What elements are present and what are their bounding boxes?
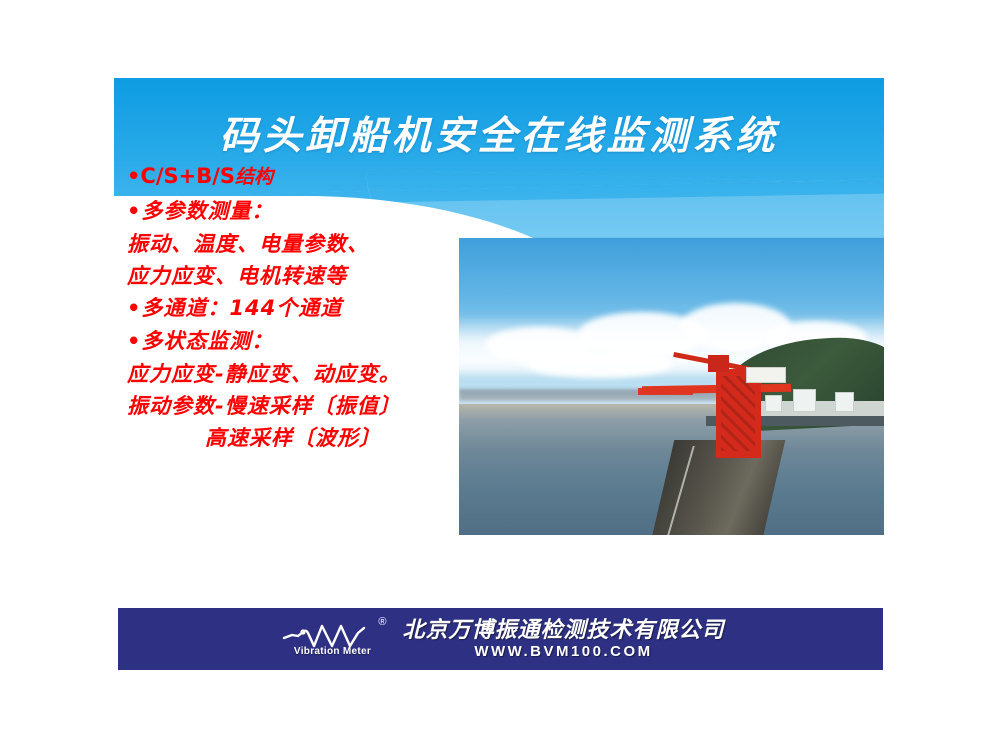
bullet-multi-channel: •多通道：144个通道 xyxy=(127,298,487,319)
photo-storage-tank xyxy=(835,392,854,412)
bullet-highspeed-line: 高速采样〔波形〕 xyxy=(127,428,487,449)
company-website: WWW.BVM100.COM xyxy=(474,644,652,660)
photo-cloud xyxy=(527,351,672,378)
port-crane-photo xyxy=(459,238,884,535)
bullet-architecture-latin: •C/S+B/S xyxy=(127,164,235,188)
bullet-parameters-line-1: 振动、温度、电量参数、 xyxy=(127,234,487,255)
bullet-architecture-cn: 结构 xyxy=(235,166,273,188)
company-logo: ® Vibration Meter xyxy=(276,616,388,662)
bullet-list: •C/S+B/S结构 •多参数测量： 振动、温度、电量参数、 应力应变、电机转速… xyxy=(127,166,487,460)
photo-storage-tank xyxy=(793,389,816,412)
bullet-multi-parameter-heading: •多参数测量： xyxy=(127,201,487,222)
bullet-multi-state-heading: •多状态监测： xyxy=(127,331,487,352)
photo-crane-signboard xyxy=(746,367,786,383)
photo-crane-machinery-house xyxy=(708,355,729,371)
bullet-vibration-line: 振动参数-慢速采样〔振值〕 xyxy=(127,396,487,417)
presentation-slide: 码头卸船机安全在线监测系统 •C/S+B/S结构 •多参数测量： 振动、温度、电… xyxy=(114,78,884,670)
footer-text-block: 北京万博振通检测技术有限公司 WWW.BVM100.COM xyxy=(402,619,724,660)
bullet-parameters-line-2: 应力应变、电机转速等 xyxy=(127,266,487,287)
logo-wordmark: Vibration Meter xyxy=(294,646,371,657)
bullet-architecture: •C/S+B/S结构 xyxy=(127,166,487,187)
company-name: 北京万博振通检测技术有限公司 xyxy=(402,619,724,642)
bullet-strain-line: 应力应变-静应变、动应变。 xyxy=(127,364,487,385)
slide-title: 码头卸船机安全在线监测系统 xyxy=(114,105,884,161)
photo-storage-tank xyxy=(765,395,782,412)
waveform-icon xyxy=(282,622,382,648)
footer-bar: ® Vibration Meter 北京万博振通检测技术有限公司 WWW.BVM… xyxy=(118,608,883,670)
registered-trademark-icon: ® xyxy=(378,616,386,628)
